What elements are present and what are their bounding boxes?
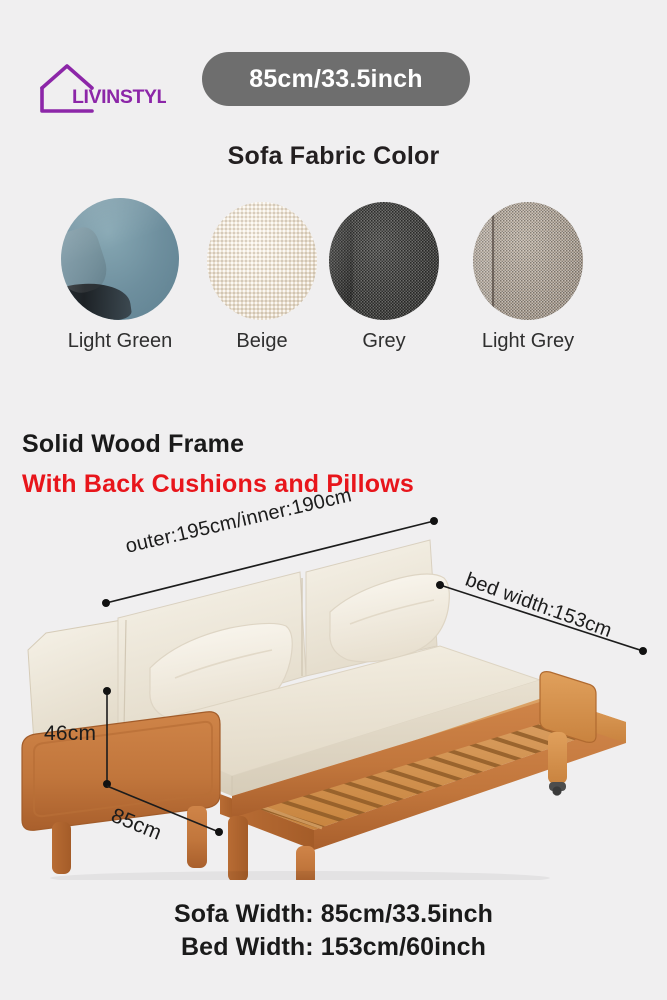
leg-front-mid [187,806,207,868]
leg-front-left [52,822,71,874]
swatch-light-grey[interactable]: Light Grey [466,202,590,353]
leg-sofa-corner [228,816,248,880]
swatch-label-grey: Grey [322,330,446,353]
swatch-light-green[interactable]: Light Green [58,198,182,353]
dimension-label-height: 46cm [44,722,96,746]
leg-right-rear [548,732,567,784]
footer-specs: Sofa Width: 85cm/33.5inch Bed Width: 153… [0,898,667,964]
footer-spec-bed-width: Bed Width: 153cm/60inch [0,931,667,964]
brand-logo: LIVINSTYLES [34,58,166,120]
swatch-label-light-grey: Light Grey [466,330,590,353]
swatch-label-light-green: Light Green [58,330,182,353]
swatch-disc-grey[interactable] [329,202,439,320]
swatch-disc-light-grey[interactable] [473,202,583,320]
swatch-disc-beige[interactable] [207,202,317,320]
caster-wheel [549,782,566,796]
size-badge: 85cm/33.5inch [202,52,470,106]
product-infographic-page: LIVINSTYLES 85cm/33.5inch Sofa Fabric Co… [0,0,667,1000]
swatch-grey[interactable]: Grey [322,202,446,353]
swatch-disc-light-green[interactable] [61,198,179,320]
brand-wordmark: LIVINSTYLES [72,86,166,108]
fabric-section-title: Sofa Fabric Color [0,142,667,171]
feature-heading-frame: Solid Wood Frame [22,430,244,459]
product-illustration [0,500,667,880]
swatch-beige[interactable]: Beige [200,202,324,353]
footer-spec-sofa-width: Sofa Width: 85cm/33.5inch [0,898,667,931]
feature-heading-cushions: With Back Cushions and Pillows [22,470,414,499]
fabric-swatch-row: Light Green Beige Grey Light Grey [50,196,630,376]
swatch-label-beige: Beige [200,330,324,353]
